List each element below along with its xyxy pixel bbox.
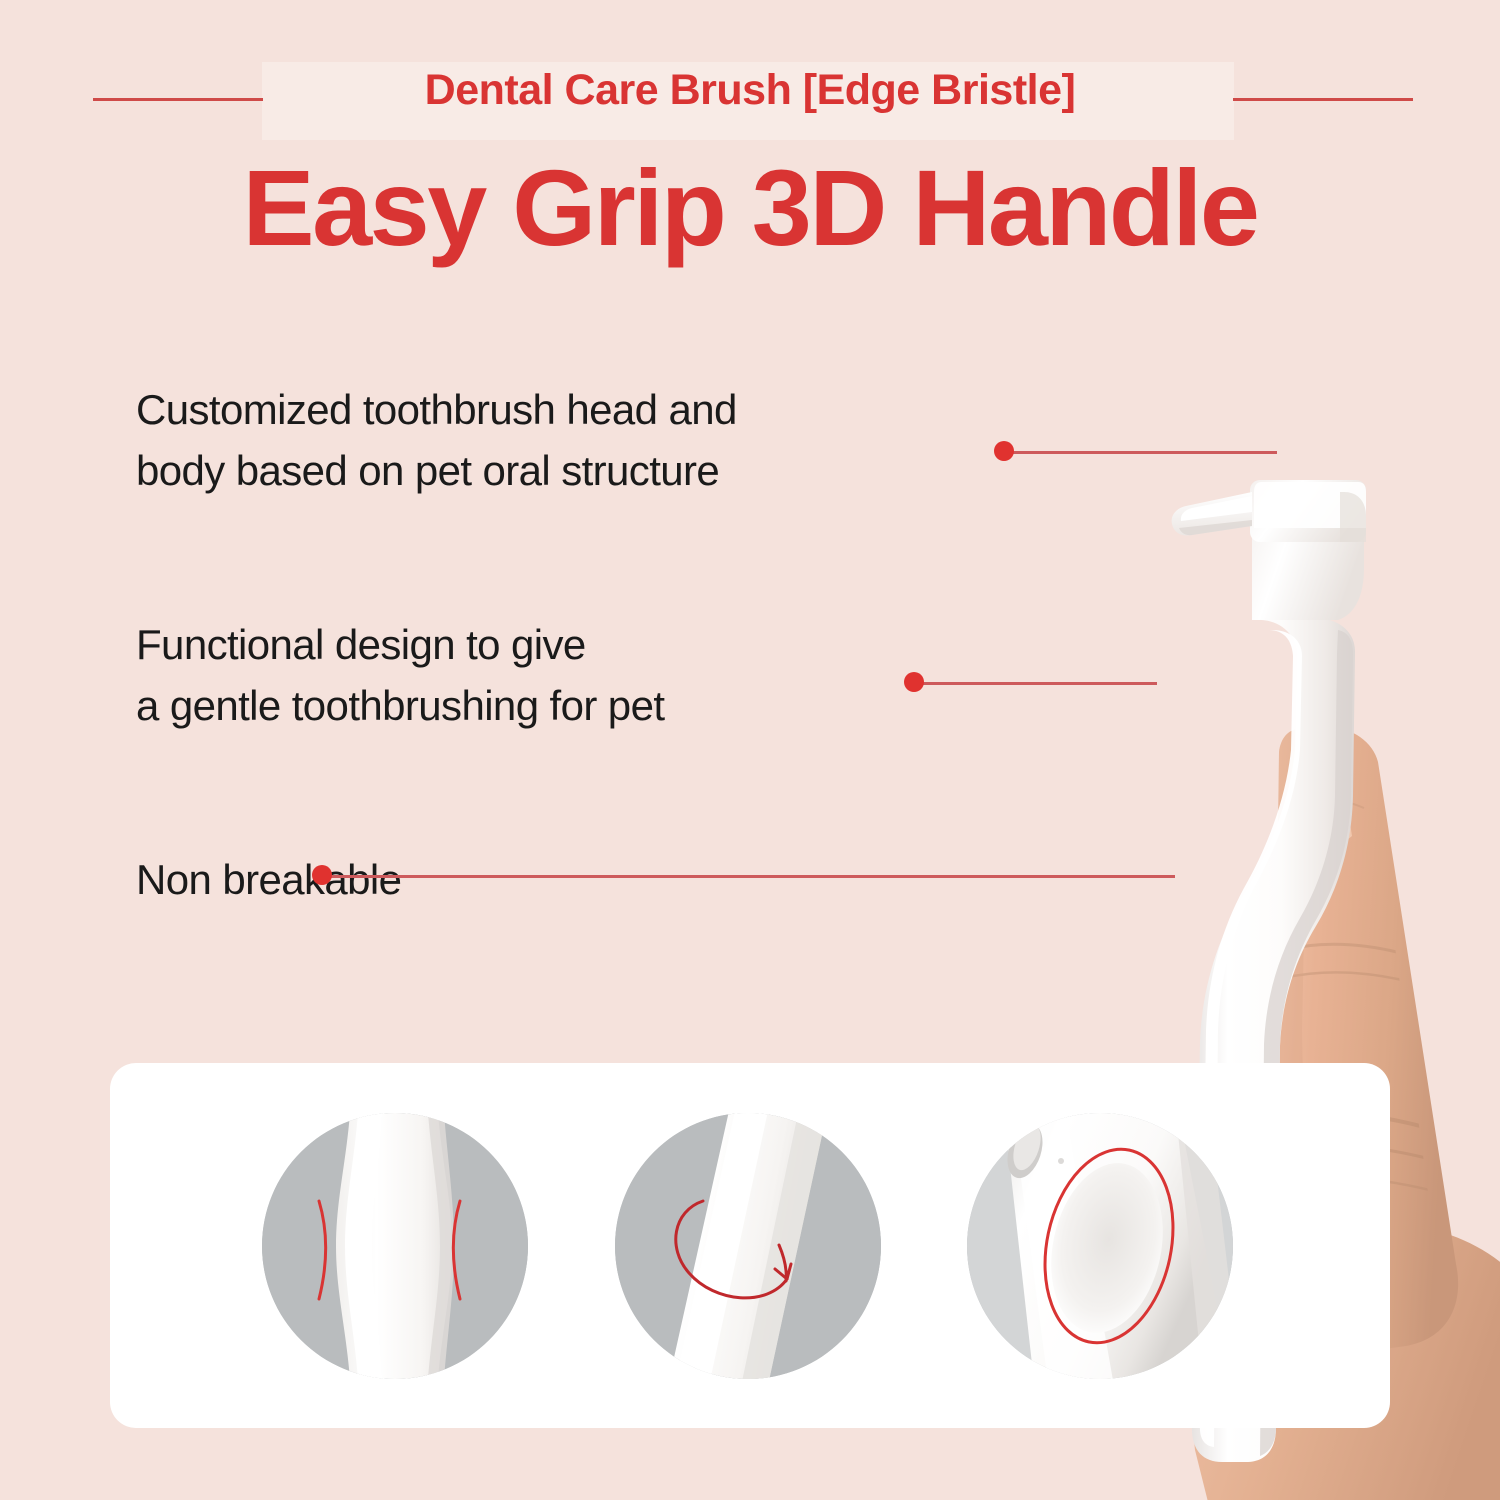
detail-card — [110, 1063, 1390, 1428]
feature-text-2: Functional design to give a gentle tooth… — [136, 615, 664, 737]
detail-circle-rotation — [615, 1113, 881, 1379]
connector-dot-2 — [904, 672, 924, 692]
infographic-canvas: Dental Care Brush [Edge Bristle] Easy Gr… — [0, 0, 1500, 1500]
detail-circle-waist-grip — [262, 1113, 528, 1379]
feature-text-1: Customized toothbrush head and body base… — [136, 380, 737, 502]
subtitle: Dental Care Brush [Edge Bristle] — [0, 66, 1500, 115]
connector-dot-1 — [994, 441, 1014, 461]
page-title: Easy Grip 3D Handle — [0, 150, 1500, 267]
feature-text-3: Non breakable — [136, 850, 401, 911]
connector-dot-3 — [312, 865, 332, 885]
detail-circle-thumb-rest — [967, 1113, 1233, 1379]
